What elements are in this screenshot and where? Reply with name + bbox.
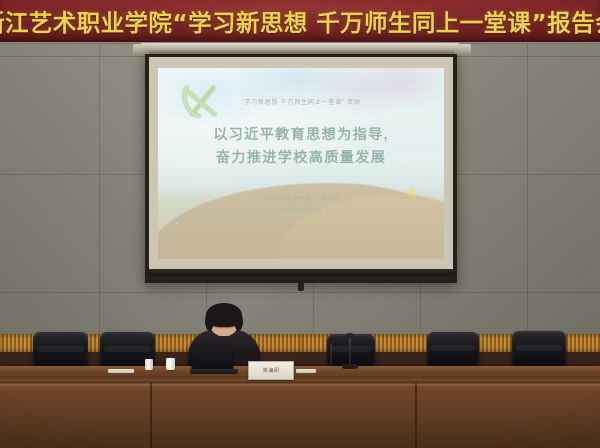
microphone-stand bbox=[349, 338, 351, 366]
projector-screen-case bbox=[141, 43, 459, 54]
slide-presenter-line: 浙江艺术职业学院 朱海闵 bbox=[158, 194, 444, 205]
microphone-stand-2 bbox=[330, 344, 332, 366]
cup-icon bbox=[166, 358, 175, 370]
star-icon-small-3: ★ bbox=[383, 181, 387, 186]
nameplate-icon: 朱海闵 bbox=[248, 361, 294, 380]
slide-footer: 浙江艺术职业学院 朱海闵 2018年6月14日 bbox=[158, 194, 444, 215]
star-icon-small-4: ★ bbox=[424, 174, 428, 180]
projection-screen: “学习新思想 千万师生同上一堂课” 活动 以习近平教育思想为指导, 奋力推进学校… bbox=[145, 54, 457, 283]
slide-title: 以习近平教育思想为指导, 奋力推进学校高质量发展 bbox=[158, 124, 444, 170]
slide-kicker-text: “学习新思想 千万师生同上一堂课” 活动 bbox=[158, 97, 444, 106]
table-panel-seam bbox=[415, 383, 417, 448]
event-banner-text: 浙江艺术职业学院“学习新思想 千万师生同上一堂课”报告会 bbox=[0, 0, 600, 42]
speaker-glasses bbox=[211, 317, 237, 324]
table-highlight bbox=[0, 384, 600, 387]
star-icon-small-2: ★ bbox=[405, 164, 409, 169]
cup-icon-2 bbox=[145, 359, 153, 370]
chair bbox=[33, 332, 88, 368]
slide-presenter-org: 浙江艺术职业学院 bbox=[262, 196, 311, 202]
paper-sheet bbox=[108, 369, 134, 373]
screen-bottom-bar bbox=[149, 269, 453, 276]
star-icon-small-1: ★ bbox=[390, 169, 394, 175]
slide-date: 2018年6月14日 bbox=[158, 205, 444, 216]
presentation-slide: “学习新思想 千万师生同上一堂课” 活动 以习近平教育思想为指导, 奋力推进学校… bbox=[158, 68, 444, 259]
projection-screen-surface: “学习新思想 千万师生同上一堂课” 活动 以习近平教育思想为指导, 奋力推进学校… bbox=[149, 57, 453, 276]
star-icon-large: ★ bbox=[405, 183, 418, 201]
screen-bracket-right bbox=[455, 44, 471, 56]
conference-table-front bbox=[0, 383, 600, 448]
star-icon-speck: ★ bbox=[175, 221, 179, 226]
event-banner: 浙江艺术职业学院“学习新思想 千万师生同上一堂课”报告会 bbox=[0, 0, 600, 42]
laptop-base bbox=[190, 369, 238, 374]
slide-title-line-2: 奋力推进学校高质量发展 bbox=[158, 147, 444, 170]
chair bbox=[427, 332, 479, 366]
slide-presenter-name: 朱海闵 bbox=[321, 196, 339, 202]
microphone-base bbox=[342, 364, 358, 369]
chair bbox=[512, 331, 566, 367]
table-panel-seam bbox=[150, 383, 152, 448]
slide-title-line-1: 以习近平教育思想为指导, bbox=[158, 124, 444, 147]
screen-weight-hook bbox=[298, 282, 304, 291]
photo-scene: “学习新思想 千万师生同上一堂课” 活动 以习近平教育思想为指导, 奋力推进学校… bbox=[0, 0, 600, 448]
laptop-icon bbox=[192, 345, 233, 372]
paper-sheet bbox=[296, 369, 316, 373]
